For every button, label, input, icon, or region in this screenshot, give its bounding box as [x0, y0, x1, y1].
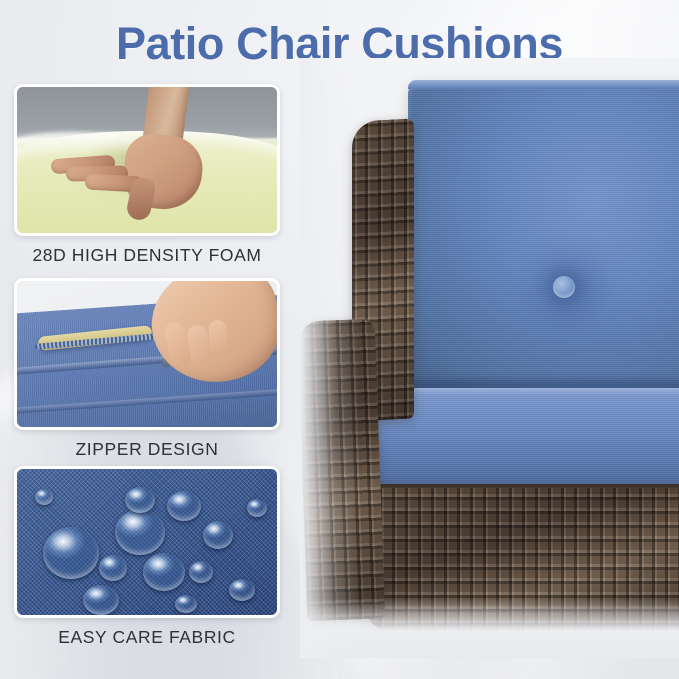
seat-cushion	[374, 388, 679, 496]
water-droplet	[167, 491, 201, 521]
water-droplet	[189, 561, 213, 583]
water-droplet	[99, 555, 127, 581]
water-droplet	[175, 595, 197, 613]
feature-caption-zipper-design: ZIPPER DESIGN	[14, 439, 280, 460]
feature-caption-high-density-foam: 28D HIGH DENSITY FOAM	[14, 245, 280, 266]
feature-card-zipper-design: ZIPPER DESIGN	[14, 278, 280, 460]
cushion-piping	[408, 80, 679, 89]
feature-image-zipper-design	[14, 278, 280, 430]
water-droplet	[35, 489, 53, 505]
water-droplet	[247, 499, 267, 517]
water-droplet	[125, 487, 155, 513]
feature-image-high-density-foam	[14, 84, 280, 236]
water-droplet	[115, 509, 165, 555]
photo-left-edge-fade	[300, 58, 360, 658]
water-droplet	[229, 579, 255, 601]
tufted-button	[553, 276, 575, 298]
feature-caption-easy-care-fabric: EASY CARE FABRIC	[14, 627, 280, 648]
feature-card-easy-care-fabric: EASY CARE FABRIC	[14, 466, 280, 648]
water-droplet	[143, 553, 185, 591]
product-photo-patio-chair	[300, 58, 679, 658]
water-droplet	[203, 521, 233, 549]
water-droplet	[43, 527, 99, 579]
feature-card-high-density-foam: 28D HIGH DENSITY FOAM	[14, 84, 280, 266]
finger	[209, 320, 228, 355]
infographic-root: Patio Chair Cushions 28D HIGH DENSITY FO…	[0, 0, 679, 679]
water-droplet	[83, 585, 119, 615]
feature-image-easy-care-fabric	[14, 466, 280, 618]
